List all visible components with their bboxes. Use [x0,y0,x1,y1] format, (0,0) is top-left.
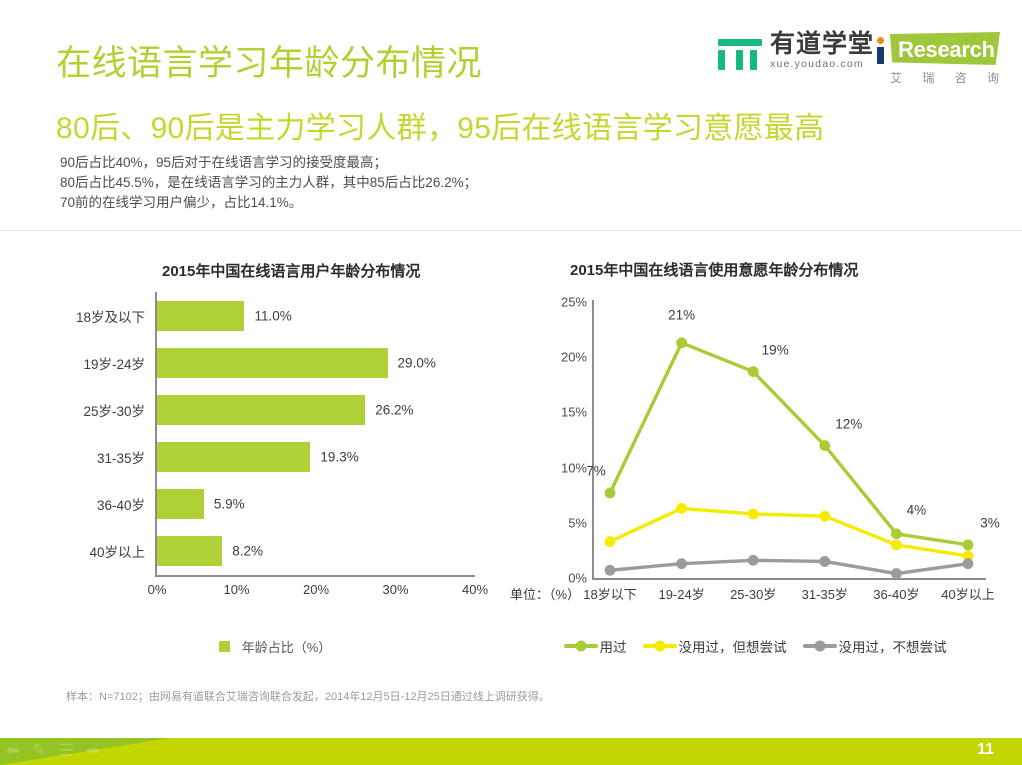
bar-segment [157,442,310,472]
bar-x-tick-label: 0% [148,582,167,597]
line-data-point [891,539,902,550]
legend-line-icon [643,644,677,648]
bar-segment [157,348,388,378]
page-title: 在线语言学习年龄分布情况 [56,35,482,86]
arrow-left-icon: ⬅ [6,742,20,759]
bar-category-label: 40岁以上 [89,541,145,561]
bar-chart-row: 25岁-30岁26.2% [60,386,490,433]
iresearch-i-icon [876,37,888,63]
line-data-label: 19% [762,342,789,357]
bar-category-label: 25岁-30岁 [83,400,145,420]
line-data-label: 4% [907,502,927,517]
bar-value-label: 19.3% [320,449,358,464]
page-subtitle: 80后、90后是主力学习人群，95后在线语言学习意愿最高 [56,103,825,147]
header-divider [0,230,1022,231]
legend-item[interactable]: 没用过，但想尝试 [643,636,787,656]
bar-x-tick-label: 10% [223,582,249,597]
line-data-label: 7% [586,463,606,478]
iresearch-logo-word: Research [898,37,995,63]
legend-label: 年龄占比（%） [242,637,332,656]
line-data-label: 3% [980,515,1000,530]
menu-icon: ☰ [59,742,74,759]
line-data-point [963,558,974,569]
bar-category-label: 36-40岁 [97,494,145,514]
line-data-point [748,366,759,377]
line-data-label: 12% [835,416,862,431]
legend-item[interactable]: 用过 [564,636,627,656]
line-data-point [963,539,974,550]
youdao-logo-url: xue.youdao.com [770,58,864,70]
line-series-path [610,560,968,573]
line-chart-unit-label: 单位：（%） [510,584,580,603]
iresearch-cn-char: 询 [987,69,1000,86]
legend-label: 没用过，不想尝试 [839,636,947,656]
bar-chart-row: 31-35岁19.3% [60,433,490,480]
line-chart-plot [505,292,1005,592]
line-x-tick-label: 36-40岁 [873,584,919,603]
line-data-point [819,556,830,567]
lead-line-2: 80后占比45.5%，是在线语言学习的主力人群，其中85后占比26.2%； [60,173,477,193]
legend-line-icon [564,644,598,648]
bar-chart-row: 18岁及以下11.0% [60,292,490,339]
nav-watermark: ⬅ ✎ ☰ ➡ [6,742,100,759]
line-x-tick-label: 18岁以下 [583,584,636,603]
page-number: 11 [977,741,994,759]
iresearch-logo-cn: 艾 瑞 咨 询 [890,69,1000,86]
line-data-point [605,536,616,547]
line-data-point [819,511,830,522]
bar-segment [157,536,222,566]
line-data-point [891,528,902,539]
bar-value-label: 8.2% [232,543,263,558]
bar-x-tick-label: 40% [462,582,488,597]
line-data-point [891,568,902,579]
line-x-tick-label: 19-24岁 [658,584,704,603]
youdao-logo: 有道学堂 xue.youdao.com [718,31,874,70]
youdao-logo-name: 有道学堂 [770,31,874,57]
bar-value-label: 5.9% [214,496,245,511]
pencil-icon: ✎ [32,742,46,759]
age-distribution-bar-chart: 18岁及以下11.0%19岁-24岁29.0%25岁-30岁26.2%31-35… [60,292,490,612]
line-x-tick-label: 25-30岁 [730,584,776,603]
bar-chart-legend: 年龄占比（%） [60,637,490,656]
bar-category-label: 19岁-24岁 [83,353,145,373]
iresearch-logo: Research 艾 瑞 咨 询 [872,30,1000,86]
iresearch-cn-char: 瑞 [922,69,935,86]
lead-line-1: 90后占比40%，95后对于在线语言学习的接受度最高； [60,153,477,173]
usage-willingness-line-chart: 0%5%10%15%20%25% 7%21%19%12%4%3% 18岁以下19… [505,292,1005,622]
legend-label: 用过 [600,636,627,656]
line-data-point [605,488,616,499]
bar-chart-row: 40岁以上8.2% [60,527,490,574]
line-data-point [605,565,616,576]
line-data-point [819,440,830,451]
line-data-point [748,509,759,520]
left-chart-title: 2015年中国在线语言用户年龄分布情况 [162,260,420,281]
iresearch-cn-char: 咨 [955,69,968,86]
lead-line-3: 70前的在线学习用户偏少，占比14.1%。 [60,193,477,213]
bar-value-label: 29.0% [398,355,436,370]
legend-label: 没用过，但想尝试 [679,636,787,656]
legend-line-icon [803,644,837,648]
bar-value-label: 26.2% [375,402,413,417]
legend-item[interactable]: 没用过，不想尝试 [803,636,947,656]
line-chart-legend: 用过没用过，但想尝试没用过，不想尝试 [505,636,1005,656]
iresearch-cn-char: 艾 [890,69,903,86]
lead-paragraph: 90后占比40%，95后对于在线语言学习的接受度最高； 80后占比45.5%，是… [60,153,477,213]
line-x-tick-label: 40岁以上 [941,584,994,603]
legend-swatch-icon [219,641,230,652]
right-chart-title: 2015年中国在线语言使用意愿年龄分布情况 [570,259,858,280]
bar-chart-row: 19岁-24岁29.0% [60,339,490,386]
bar-segment [157,395,365,425]
source-note: 样本：N=7102；由网易有道联合艾瑞咨询联合发起，2014年12月5日-12月… [66,688,550,704]
bar-chart-row: 36-40岁5.9% [60,480,490,527]
bar-segment [157,489,204,519]
arrow-right-icon: ➡ [86,742,100,759]
line-data-point [748,555,759,566]
temple-columns-icon [718,36,762,70]
bar-chart-x-axis [155,575,475,577]
bar-category-label: 31-35岁 [97,447,145,467]
bar-value-label: 11.0% [254,308,291,323]
bar-segment [157,301,244,331]
bar-chart-x-ticks: 0%10%20%30%40% [155,582,477,602]
line-x-tick-label: 31-35岁 [802,584,848,603]
slide: 在线语言学习年龄分布情况 80后、90后是主力学习人群，95后在线语言学习意愿最… [0,0,1022,765]
line-data-label: 21% [668,307,695,322]
line-data-point [676,337,687,348]
footer-bar: ⬅ ✎ ☰ ➡ [0,738,1022,765]
bar-category-label: 18岁及以下 [76,306,145,326]
bar-x-tick-label: 20% [303,582,329,597]
line-data-point [676,558,687,569]
line-data-point [676,503,687,514]
bar-x-tick-label: 30% [382,582,408,597]
